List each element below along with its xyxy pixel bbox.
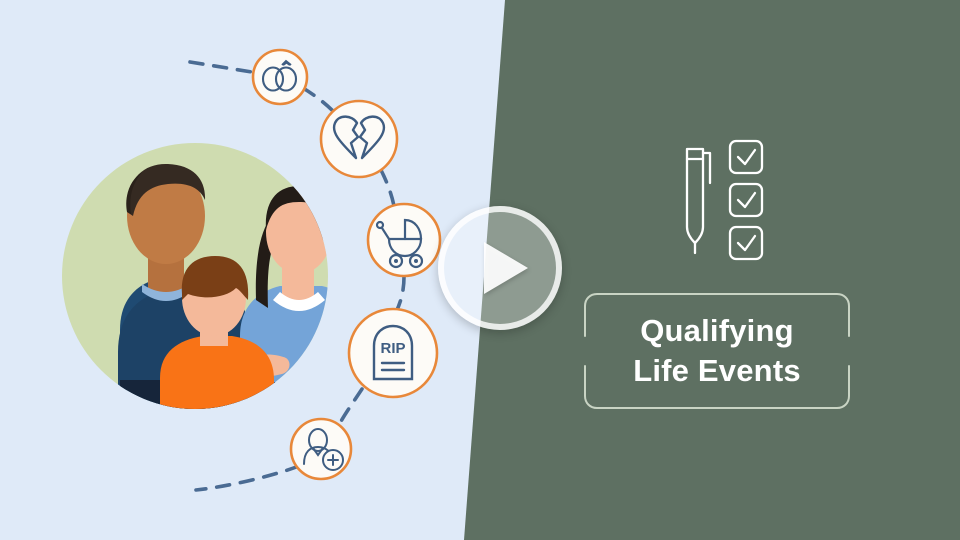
event-icon-new-hire: [291, 419, 351, 479]
video-thumbnail: RIP: [0, 0, 960, 540]
event-icon-death: RIP: [349, 309, 437, 397]
title-card: Qualifying Life Events: [583, 292, 851, 410]
pen-and-checklist-icon: [660, 135, 790, 265]
title-line-2: Life Events: [633, 351, 801, 391]
pen-icon: [687, 149, 710, 253]
event-icon-new-baby: [368, 204, 440, 276]
event-icon-divorce: [321, 101, 397, 177]
page-title: Qualifying Life Events: [583, 292, 851, 410]
event-icon-marriage: [253, 50, 307, 104]
checkbox-1: [730, 141, 762, 173]
tombstone-rip-text: RIP: [380, 340, 405, 357]
play-button[interactable]: [438, 206, 562, 330]
title-line-1: Qualifying: [640, 311, 794, 351]
checkbox-2: [730, 184, 762, 216]
family-photo-circle: [62, 143, 362, 410]
checkbox-3: [730, 227, 762, 259]
life-events-illustration: RIP: [0, 0, 505, 540]
